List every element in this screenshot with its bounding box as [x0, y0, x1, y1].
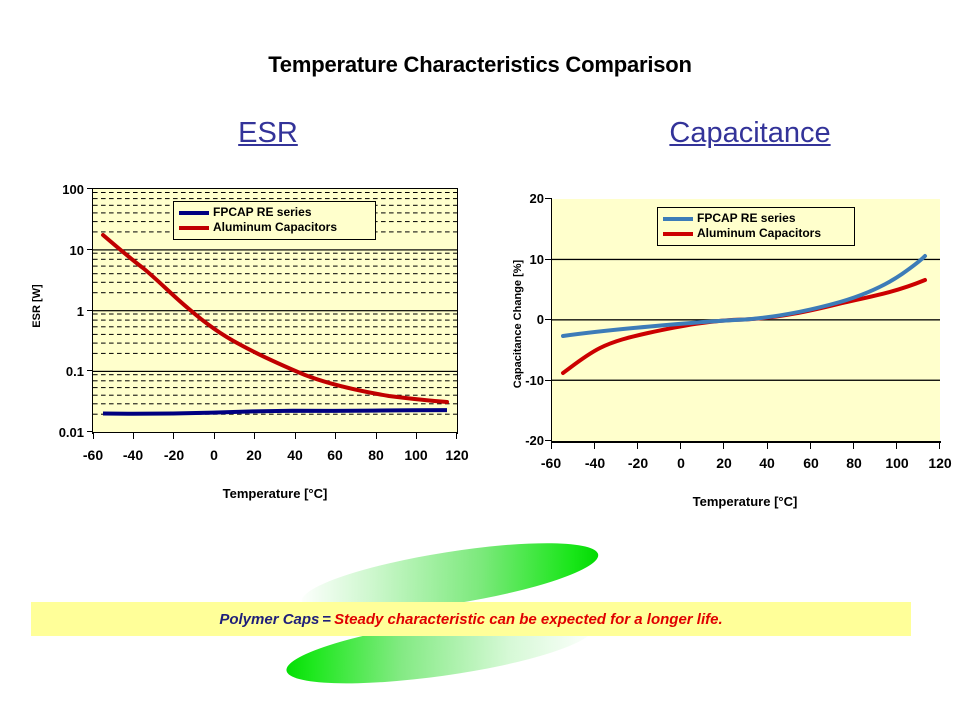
- esr-xtick-40: 40: [275, 447, 315, 463]
- esr-xtick--20: -20: [154, 447, 194, 463]
- esr-xtickmark-9: [456, 433, 457, 439]
- esr-legend-label-aluminum: Aluminum Capacitors: [213, 221, 337, 234]
- capacitance-ytickmark-20: [545, 198, 551, 199]
- esr-ytickmark-100: [87, 188, 92, 189]
- capacitance-xtickmark-1: [594, 442, 595, 449]
- capacitance-xtick--60: -60: [531, 455, 571, 471]
- capacitance-ytickmark--10: [545, 380, 551, 381]
- capacitance-ytick--20: -20: [498, 433, 544, 448]
- esr-xtick-120: 120: [437, 447, 477, 463]
- capacitance-legend-label-fpcap: FPCAP RE series: [697, 212, 796, 225]
- legend-line-swatch-fpcap: [663, 217, 693, 221]
- capacitance-plot-area: FPCAP RE series Aluminum Capacitors: [552, 199, 940, 441]
- esr-ytickmark-10: [87, 249, 92, 250]
- summary-banner: Polymer Caps=Steady characteristic can b…: [31, 602, 911, 636]
- esr-plot-right-border: [457, 188, 458, 434]
- esr-xtickmark-1: [133, 433, 134, 439]
- esr-plot-top-border: [92, 188, 458, 189]
- capacitance-xtick-40: 40: [747, 455, 787, 471]
- capacitance-chart: Capacitance Change [%] FPCAP RE series: [480, 0, 960, 520]
- esr-x-axis: [92, 432, 458, 433]
- capacitance-xtick-120: 120: [920, 455, 960, 471]
- esr-xtick-100: 100: [396, 447, 436, 463]
- capacitance-xtickmark-7: [853, 442, 854, 449]
- capacitance-legend-row-fpcap: FPCAP RE series: [663, 211, 847, 226]
- esr-xtickmark-3: [214, 433, 215, 439]
- legend-line-swatch-aluminum: [179, 226, 209, 230]
- esr-xtickmark-4: [254, 433, 255, 439]
- capacitance-legend: FPCAP RE series Aluminum Capacitors: [657, 207, 855, 246]
- capacitance-ytickmark-10: [545, 259, 551, 260]
- capacitance-x-axis-label: Temperature [°C]: [625, 494, 865, 509]
- esr-plot-area: FPCAP RE series Aluminum Capacitors: [93, 189, 457, 432]
- esr-xtickmark-8: [416, 433, 417, 439]
- capacitance-xtickmark-0: [551, 442, 552, 449]
- esr-ytickmark-1: [87, 310, 92, 311]
- capacitance-y-axis: [551, 198, 553, 443]
- capacitance-xtick-100: 100: [877, 455, 917, 471]
- capacitance-legend-label-aluminum: Aluminum Capacitors: [697, 227, 821, 240]
- capacitance-xtick--40: -40: [575, 455, 615, 471]
- capacitance-xtickmark-8: [896, 442, 897, 449]
- esr-ytick-100: 100: [36, 182, 84, 197]
- capacitance-xtick--20: -20: [618, 455, 658, 471]
- capacitance-xtickmark-6: [810, 442, 811, 449]
- esr-xtick-80: 80: [356, 447, 396, 463]
- esr-xtick-0: 0: [194, 447, 234, 463]
- legend-line-swatch-aluminum: [663, 232, 693, 236]
- esr-xtickmark-2: [173, 433, 174, 439]
- esr-legend-label-fpcap: FPCAP RE series: [213, 206, 312, 219]
- esr-y-axis: [92, 188, 93, 434]
- esr-ytickmark-0.01: [87, 431, 92, 432]
- legend-line-swatch-fpcap: [179, 211, 209, 215]
- capacitance-xtickmark-4: [723, 442, 724, 449]
- esr-xtickmark-5: [295, 433, 296, 439]
- capacitance-x-axis: [551, 441, 941, 443]
- esr-ytick-10: 10: [36, 243, 84, 258]
- esr-xtick--40: -40: [113, 447, 153, 463]
- esr-legend: FPCAP RE series Aluminum Capacitors: [173, 201, 376, 240]
- esr-xtick-20: 20: [234, 447, 274, 463]
- capacitance-ytickmark-0: [545, 319, 551, 320]
- esr-ytick-0.1: 0.1: [36, 364, 84, 379]
- capacitance-xtickmark-2: [637, 442, 638, 449]
- capacitance-xtick-0: 0: [661, 455, 701, 471]
- esr-xtick-60: 60: [315, 447, 355, 463]
- esr-chart: ESR [W]: [0, 0, 480, 520]
- capacitance-ytick--10: -10: [498, 373, 544, 388]
- esr-xtick--60: -60: [73, 447, 113, 463]
- banner-lead-text: Polymer Caps: [219, 611, 319, 628]
- capacitance-ytick-20: 20: [498, 191, 544, 206]
- esr-ytick-0.01: 0.01: [36, 425, 84, 440]
- summary-banner-text: Polymer Caps=Steady characteristic can b…: [219, 611, 722, 628]
- esr-legend-row-fpcap: FPCAP RE series: [179, 205, 368, 220]
- esr-legend-row-aluminum: Aluminum Capacitors: [179, 220, 368, 235]
- capacitance-ytick-10: 10: [498, 252, 544, 267]
- capacitance-xtickmark-3: [680, 442, 681, 449]
- esr-ytick-1: 1: [36, 304, 84, 319]
- capacitance-xtickmark-9: [939, 442, 940, 449]
- banner-message-text: Steady characteristic can be expected fo…: [334, 611, 722, 628]
- capacitance-legend-row-aluminum: Aluminum Capacitors: [663, 226, 847, 241]
- capacitance-xtickmark-5: [767, 442, 768, 449]
- capacitance-xtick-80: 80: [834, 455, 874, 471]
- banner-equals-sign: =: [319, 611, 334, 628]
- esr-xtickmark-0: [93, 433, 94, 439]
- slide-canvas: Temperature Characteristics Comparison E…: [0, 0, 960, 720]
- esr-x-axis-label: Temperature [°C]: [155, 486, 395, 501]
- esr-xtickmark-7: [376, 433, 377, 439]
- esr-ytickmark-0.1: [87, 370, 92, 371]
- esr-xtickmark-6: [335, 433, 336, 439]
- capacitance-xtick-20: 20: [704, 455, 744, 471]
- capacitance-ytick-0: 0: [498, 312, 544, 327]
- capacitance-xtick-60: 60: [791, 455, 831, 471]
